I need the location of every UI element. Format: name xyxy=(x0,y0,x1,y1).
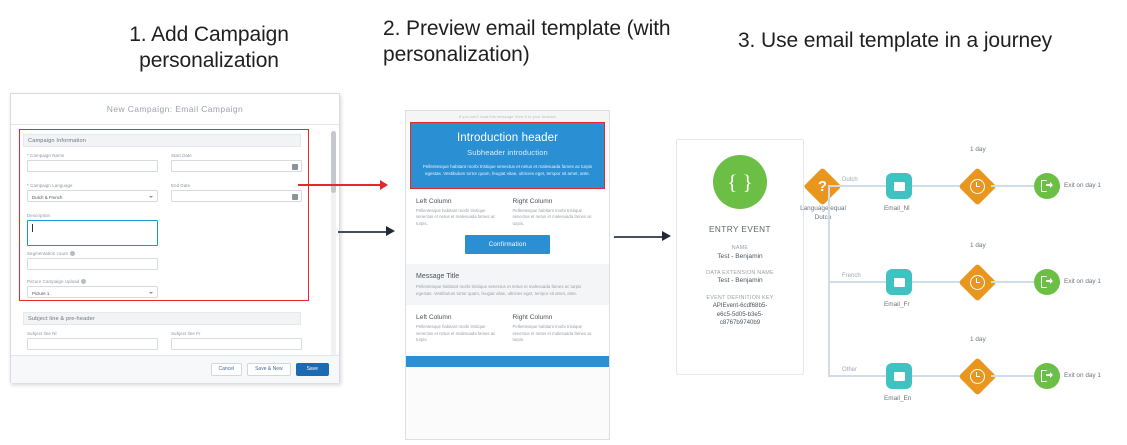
diagram-canvas: 1. Add Campaign personalization 2. Previ… xyxy=(0,0,1127,445)
email-left-column-top-body: Pellentesque habitant morbi tristique se… xyxy=(416,208,503,227)
email-right-column-bottom-title: Right Column xyxy=(513,314,600,321)
email-preheader-note: If you can't read this message View it i… xyxy=(459,115,557,119)
branch-3-wait-label: 1 day xyxy=(970,336,986,343)
description-input[interactable] xyxy=(27,220,158,246)
entry-event-key-line-1: APIEvent-6cdf68b5- xyxy=(677,302,803,310)
email-right-column-bottom-body: Pellentesque habitant morbi tristique se… xyxy=(513,324,600,343)
email-hero-highlight: Introduction header Subheader introducti… xyxy=(410,122,605,189)
email-preview-window: If you can't read this message View it i… xyxy=(405,110,610,440)
calendar-icon[interactable] xyxy=(292,164,298,170)
email-right-column-top: Right Column Pellentesque habitant morbi… xyxy=(513,198,600,227)
email-hero-subheader: Subheader introduction xyxy=(421,148,594,157)
journey-exit-node-2[interactable] xyxy=(1034,269,1060,295)
entry-event-title: ENTRY EVENT xyxy=(677,225,803,234)
calendar-icon[interactable] xyxy=(292,194,298,200)
subject-line-fr-input[interactable] xyxy=(171,338,302,350)
field-label-description: Description xyxy=(27,213,158,218)
email-left-column-bottom: Left Column Pellentesque habitant morbi … xyxy=(416,314,503,343)
decision-node-label: Language equal Dutch xyxy=(782,205,864,222)
field-label-campaign-name: * Campaign Name xyxy=(27,153,158,158)
email-icon xyxy=(894,372,905,381)
email-hero-body: Pellentesque habitant morbi tristique se… xyxy=(421,163,594,177)
campaign-form-footer: Cancel Save & New Save xyxy=(11,355,339,383)
email-columns-top: Left Column Pellentesque habitant morbi … xyxy=(406,189,609,264)
email-preheader-bar: If you can't read this message View it i… xyxy=(406,111,609,122)
exit-icon xyxy=(1041,180,1054,192)
info-icon[interactable] xyxy=(81,279,86,284)
branch-3-wire-label: Other xyxy=(842,367,857,373)
step-3-title: 3. Use email template in a journey xyxy=(700,28,1090,54)
field-label-segmentation-count: Segmentation count xyxy=(27,251,158,256)
campaign-form-body: Campaign Information * Campaign Name Sta… xyxy=(11,125,339,383)
cancel-button[interactable]: Cancel xyxy=(211,363,243,376)
wire-branch-3 xyxy=(828,375,886,377)
subject-line-nl-input[interactable] xyxy=(27,338,158,350)
email-left-column-bottom-body: Pellentesque habitant morbi tristique se… xyxy=(416,324,503,343)
wire-wait-3-to-exit xyxy=(991,375,1038,377)
chevron-down-icon[interactable] xyxy=(149,292,153,294)
wire-branch-1-to-wait xyxy=(912,185,964,187)
clock-icon xyxy=(964,173,991,200)
journey-exit-node-3[interactable] xyxy=(1034,363,1060,389)
campaign-language-select[interactable]: Dutch & French xyxy=(27,190,158,202)
picture-campaign-upload-select[interactable]: Picture 1 xyxy=(27,286,158,298)
info-icon[interactable] xyxy=(70,251,75,256)
email-hero-header: Introduction header xyxy=(421,132,594,144)
entry-event-name-group: NAME Test - Benjamin xyxy=(677,245,803,261)
campaign-form-titlebar: New Campaign: Email Campaign xyxy=(11,94,339,125)
field-campaign-name: * Campaign Name xyxy=(27,153,158,172)
email-columns-bottom: Left Column Pellentesque habitant morbi … xyxy=(406,305,609,351)
journey-email-node-2[interactable] xyxy=(886,269,912,295)
journey-exit-node-2-label: Exit on day 1 xyxy=(1064,278,1101,285)
email-hero-section: Introduction header Subheader introducti… xyxy=(411,123,604,188)
journey-email-node-1[interactable] xyxy=(886,173,912,199)
entry-event-key-line-2: e6c5-5d05-b3e5- xyxy=(677,311,803,319)
email-icon xyxy=(894,278,905,287)
email-icon xyxy=(894,182,905,191)
journey-email-node-1-label: Email_Nl xyxy=(884,205,910,212)
field-label-end-date: End Date xyxy=(171,183,302,188)
curly-braces-icon: { } xyxy=(713,155,767,209)
field-start-date: Start Date xyxy=(171,153,302,172)
campaign-form-window: New Campaign: Email Campaign Campaign In… xyxy=(10,93,340,383)
section-header-subject-preheader: Subject line & pre-header xyxy=(23,312,301,325)
branch-1-wire-label: Dutch xyxy=(842,177,858,183)
journey-entry-event-card[interactable]: { } ENTRY EVENT NAME Test - Benjamin DAT… xyxy=(676,139,804,375)
branch-1-wait-label: 1 day xyxy=(970,146,986,153)
save-button[interactable]: Save xyxy=(296,363,329,376)
campaign-name-input[interactable] xyxy=(27,160,158,172)
field-label-subject-line-fr: Subject line Fr xyxy=(171,331,302,336)
email-left-column-top-title: Left Column xyxy=(416,198,503,205)
field-label-campaign-language: * Campaign Language xyxy=(27,183,158,188)
entry-event-key-label: EVENT DEFINITION KEY xyxy=(677,295,803,301)
wire-branch-3-to-wait xyxy=(912,375,964,377)
field-label-subject-line-nl: Subject line Nl xyxy=(27,331,158,336)
field-end-date: End Date xyxy=(171,183,302,202)
exit-icon xyxy=(1041,370,1054,382)
email-hero-wrap: Introduction header Subheader introducti… xyxy=(406,122,609,189)
chevron-down-icon[interactable] xyxy=(149,196,153,198)
end-date-input[interactable] xyxy=(171,190,302,202)
picture-campaign-upload-value: Picture 1 xyxy=(32,291,49,296)
journey-email-node-2-label: Email_Fr xyxy=(884,301,910,308)
email-cta-button[interactable]: Confirmation xyxy=(465,235,550,254)
journey-email-node-3[interactable] xyxy=(886,363,912,389)
email-right-column-top-body: Pellentesque habitant morbi tristique se… xyxy=(513,208,600,227)
entry-event-key-group: EVENT DEFINITION KEY APIEvent-6cdf68b5- … xyxy=(677,295,803,327)
decision-label-line-1: Language equal xyxy=(800,205,846,212)
email-footer-bar xyxy=(406,356,609,367)
segmentation-count-input[interactable] xyxy=(27,258,158,270)
entry-event-data-extension-label: DATA EXTENSION NAME xyxy=(677,270,803,276)
branch-2-wire-label: French xyxy=(842,273,861,279)
grey-connector-line-1 xyxy=(338,231,386,233)
email-left-column-bottom-title: Left Column xyxy=(416,314,503,321)
campaign-language-value: Dutch & French xyxy=(32,195,63,200)
email-right-column-bottom: Right Column Pellentesque habitant morbi… xyxy=(513,314,600,343)
entry-event-name-value: Test - Benjamin xyxy=(677,253,803,261)
step-1-title: 1. Add Campaign personalization xyxy=(64,22,354,74)
section-header-campaign-information: Campaign Information xyxy=(23,134,301,147)
entry-event-name-label: NAME xyxy=(677,245,803,251)
wire-wait-2-to-exit xyxy=(991,281,1038,283)
email-message-section: Message Title Pellentesque habitant morb… xyxy=(406,264,609,305)
clock-icon xyxy=(964,363,991,390)
field-description: Description xyxy=(27,213,158,246)
entry-event-key-line-3: c8767b9740b9 xyxy=(677,319,803,327)
email-left-column-top: Left Column Pellentesque habitant morbi … xyxy=(416,198,503,227)
email-right-column-top-title: Right Column xyxy=(513,198,600,205)
journey-exit-node-1[interactable] xyxy=(1034,173,1060,199)
journey-exit-node-3-label: Exit on day 1 xyxy=(1064,372,1101,379)
campaign-form-title: New Campaign: Email Campaign xyxy=(107,104,243,114)
wire-branch-1 xyxy=(828,185,886,187)
journey-canvas: { } ENTRY EVENT NAME Test - Benjamin DAT… xyxy=(676,132,1127,397)
section-label-campaign-information: Campaign Information xyxy=(28,138,86,144)
field-subject-line-fr: Subject line Fr xyxy=(171,331,302,350)
grey-connector-arrowhead-2 xyxy=(662,231,671,241)
grey-connector-arrowhead-1 xyxy=(386,226,395,236)
red-connector-line xyxy=(298,184,380,186)
field-picture-campaign-upload: Picture Campaign Upload Picture 1 xyxy=(27,279,158,298)
email-message-title: Message Title xyxy=(416,273,599,280)
wire-branch-2 xyxy=(828,281,886,283)
start-date-input[interactable] xyxy=(171,160,302,172)
entry-event-data-extension-group: DATA EXTENSION NAME Test - Benjamin xyxy=(677,270,803,286)
field-segmentation-count: Segmentation count xyxy=(27,251,158,270)
journey-exit-node-1-label: Exit on day 1 xyxy=(1064,182,1101,189)
save-and-new-button[interactable]: Save & New xyxy=(247,363,291,376)
field-subject-line-nl: Subject line Nl xyxy=(27,331,158,350)
wire-wait-1-to-exit xyxy=(991,185,1038,187)
branch-2-wait-label: 1 day xyxy=(970,242,986,249)
wire-branch-2-to-wait xyxy=(912,281,964,283)
field-label-start-date: Start Date xyxy=(171,153,302,158)
grey-connector-line-2 xyxy=(614,236,662,238)
step-2-title: 2. Preview email template (with personal… xyxy=(383,16,671,68)
field-campaign-language: * Campaign Language Dutch & French xyxy=(27,183,158,202)
exit-icon xyxy=(1041,276,1054,288)
clock-icon xyxy=(964,269,991,296)
field-label-picture-campaign-upload: Picture Campaign Upload xyxy=(27,279,158,284)
journey-email-node-3-label: Email_En xyxy=(884,395,911,402)
red-connector-arrowhead xyxy=(380,180,388,190)
section-label-subject-preheader: Subject line & pre-header xyxy=(28,316,95,322)
text-cursor xyxy=(32,224,33,232)
entry-event-data-extension-value: Test - Benjamin xyxy=(677,277,803,285)
email-message-body: Pellentesque habitant morbi tristique se… xyxy=(416,284,599,297)
